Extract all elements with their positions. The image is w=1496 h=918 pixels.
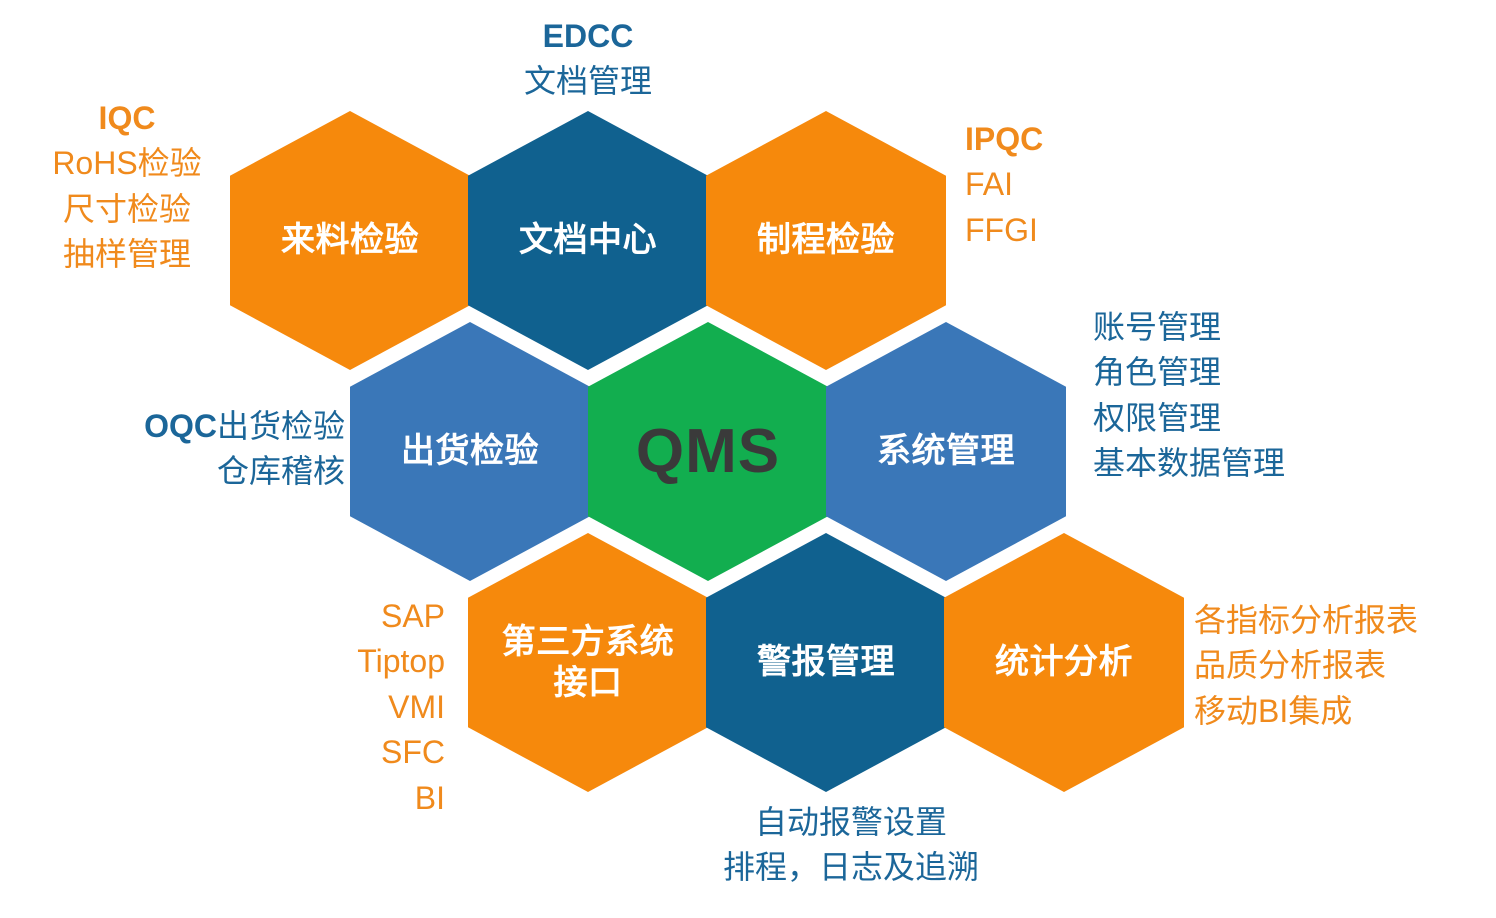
center-label: QMS: [626, 415, 790, 488]
note-system-item-0: 账号管理: [1093, 305, 1423, 350]
hexagon-third-party-interface[interactable]: 第三方系统 接口: [468, 533, 708, 792]
note-reports: 各指标分析报表 品质分析报表 移动BI集成: [1194, 598, 1494, 734]
note-iqc-item-1: 尺寸检验: [20, 187, 234, 232]
note-edcc-item-0: 文档管理: [448, 59, 728, 104]
hexagon-label: 第三方系统 接口: [492, 622, 685, 702]
hexagon-label: 文档中心: [509, 220, 667, 260]
note-system-item-3: 基本数据管理: [1093, 441, 1423, 486]
note-reports-item-0: 各指标分析报表: [1194, 598, 1494, 643]
hexagon-label: 统计分析: [985, 642, 1143, 682]
note-oqc-title: OQC: [144, 408, 217, 444]
note-alarm-item-1: 排程，日志及追溯: [616, 845, 1086, 890]
hexagon-label: 来料检验: [271, 220, 429, 260]
note-alarm: 自动报警设置 排程，日志及追溯: [616, 800, 1086, 891]
hexagon-label: 制程检验: [747, 220, 905, 260]
hexagon-incoming-inspection[interactable]: 来料检验: [230, 111, 470, 370]
note-interfaces-item-4: BI: [280, 776, 445, 821]
note-interfaces-item-1: Tiptop: [280, 639, 445, 684]
note-interfaces-item-3: SFC: [280, 730, 445, 775]
note-ipqc-item-0: FAI: [965, 162, 1185, 207]
hexagon-label: 警报管理: [747, 642, 905, 682]
hexagon-process-inspection[interactable]: 制程检验: [706, 111, 946, 370]
note-oqc-title-row: OQC出货检验: [60, 404, 345, 449]
hexagon-label-line2: 接口: [554, 664, 623, 702]
note-reports-item-1: 品质分析报表: [1194, 643, 1494, 688]
note-ipqc-item-1: FFGI: [965, 208, 1185, 253]
note-iqc: IQC RoHS检验 尺寸检验 抽样管理: [20, 96, 234, 278]
hexagon-label-line1: 第三方系统: [502, 623, 675, 661]
diagram-canvas: 来料检验 文档中心 制程检验 出货检验 QMS 系统管理 第三方系统 接口 警报…: [0, 0, 1496, 918]
note-interfaces: SAP Tiptop VMI SFC BI: [280, 594, 445, 821]
note-reports-item-2: 移动BI集成: [1194, 689, 1494, 734]
note-oqc-item-0: 仓库稽核: [60, 449, 345, 494]
note-ipqc: IPQC FAI FFGI: [965, 117, 1185, 253]
hexagon-statistical-analysis[interactable]: 统计分析: [944, 533, 1184, 792]
note-edcc: EDCC 文档管理: [448, 14, 728, 105]
hexagon-system-management[interactable]: 系统管理: [826, 322, 1066, 581]
note-edcc-title: EDCC: [448, 14, 728, 59]
hexagon-shipment-inspection[interactable]: 出货检验: [350, 322, 590, 581]
note-iqc-title: IQC: [20, 96, 234, 141]
note-oqc: OQC出货检验 仓库稽核: [60, 404, 345, 495]
note-system-management: 账号管理 角色管理 权限管理 基本数据管理: [1093, 305, 1423, 487]
note-iqc-item-2: 抽样管理: [20, 232, 234, 277]
note-interfaces-item-2: VMI: [280, 685, 445, 730]
note-ipqc-title: IPQC: [965, 117, 1185, 162]
hexagon-document-center[interactable]: 文档中心: [468, 111, 708, 370]
hexagon-alarm-management[interactable]: 警报管理: [706, 533, 946, 792]
hexagon-label: 出货检验: [391, 431, 549, 471]
note-alarm-item-0: 自动报警设置: [616, 800, 1086, 845]
note-system-item-2: 权限管理: [1093, 396, 1423, 441]
note-system-item-1: 角色管理: [1093, 350, 1423, 395]
note-oqc-title-suffix: 出货检验: [217, 408, 345, 444]
note-interfaces-item-0: SAP: [280, 594, 445, 639]
note-iqc-item-0: RoHS检验: [20, 141, 234, 186]
hexagon-qms-core[interactable]: QMS: [588, 322, 828, 581]
hexagon-label: 系统管理: [867, 431, 1025, 471]
